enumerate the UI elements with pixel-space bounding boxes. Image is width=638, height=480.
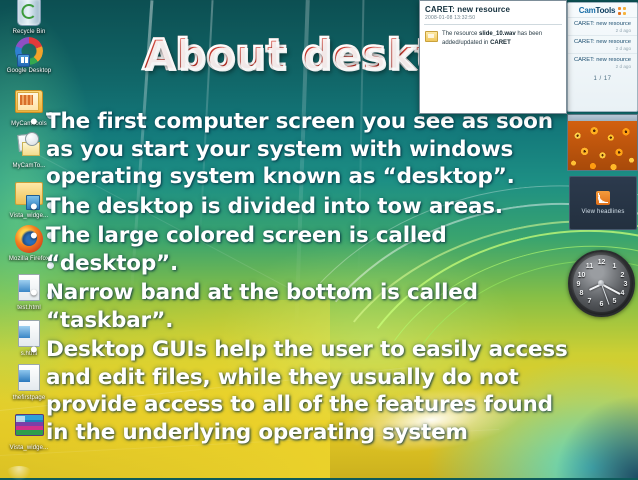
windows-sidebar: CamTools CARET: new resource 2 d ago CAR… (565, 0, 638, 478)
list-item: • The first computer screen you see as s… (30, 108, 575, 191)
file-icon (425, 31, 438, 42)
camtools-brand: CamTools (579, 6, 616, 15)
clock-gadget[interactable]: 12 1 2 3 4 5 6 7 8 9 10 11 (568, 250, 635, 317)
bullet-marker: • (30, 279, 46, 306)
camtools-header: CamTools (568, 3, 637, 17)
list-item[interactable]: CARET: new resource 2 d ago (568, 53, 637, 71)
camtools-item-title: CARET: new resource (571, 39, 634, 46)
notification-message-target: CARET (490, 40, 511, 46)
photo-flower-centers (568, 121, 637, 171)
clock-number: 10 (577, 271, 586, 280)
photo-gadget[interactable] (567, 114, 638, 171)
list-item: • The large colored screen is called “de… (30, 222, 575, 277)
camtools-item-age: 2 d ago (571, 64, 634, 69)
bullet-marker: • (30, 222, 46, 249)
camtools-brand-part2: Tools (596, 6, 616, 15)
clock-number: 1 (610, 262, 619, 271)
feed-view-headlines-label[interactable]: View headlines (581, 209, 624, 215)
camtools-item-title: CARET: new resource (571, 57, 634, 64)
clock-center-cap (598, 280, 604, 286)
camtools-gadget[interactable]: CamTools CARET: new resource 2 d ago CAR… (567, 2, 638, 112)
slide-bullet-list: • The first computer screen you see as s… (30, 108, 575, 448)
notification-body: The resource slide_10.wav has been added… (420, 25, 566, 47)
bullet-text: Desktop GUIs help the user to easily acc… (46, 336, 575, 446)
list-item: • Narrow band at the bottom is called “t… (30, 279, 575, 334)
clock-number: 11 (585, 262, 594, 271)
bullet-text: The large colored screen is called “desk… (46, 222, 575, 277)
clock-number: 7 (585, 297, 594, 306)
rss-icon (596, 191, 610, 205)
camtools-pager[interactable]: 1 / 17 (568, 71, 637, 82)
camtools-logo-icon (618, 7, 626, 15)
bullet-marker: • (30, 193, 46, 220)
camtools-item-age: 2 d ago (571, 28, 634, 33)
bullet-marker: • (30, 108, 46, 135)
list-item[interactable]: CARET: new resource 2 d ago (568, 35, 637, 53)
notification-title: CARET: new resource (420, 1, 566, 14)
bullet-marker: • (30, 336, 46, 363)
recycle-bin-icon (14, 0, 44, 28)
list-item[interactable]: CARET: new resource 2 d ago (568, 17, 637, 35)
clock-number: 2 (618, 271, 627, 280)
notification-message-file: slide_10.wav (479, 31, 516, 37)
bullet-text: The first computer screen you see as soo… (46, 108, 575, 191)
clock-number: 6 (597, 300, 606, 309)
clock-number: 8 (577, 289, 586, 298)
camtools-item-title: CARET: new resource (571, 21, 634, 28)
clock-number: 3 (621, 280, 630, 289)
list-item: • Desktop GUIs help the user to easily a… (30, 336, 575, 446)
notification-timestamp: 2008-01-08 13:32:50 (420, 14, 566, 21)
bullet-text: Narrow band at the bottom is called “tas… (46, 279, 575, 334)
notification-message-prefix: The resource (442, 31, 477, 37)
feed-headlines-gadget[interactable]: View headlines (569, 176, 637, 230)
notification-message: The resource slide_10.wav has been added… (442, 30, 561, 47)
bullet-text: The desktop is divided into tow areas. (46, 193, 503, 221)
notification-popup[interactable]: CARET: new resource 2008-01-08 13:32:50 … (419, 0, 567, 114)
camtools-brand-part1: Cam (579, 6, 596, 15)
clock-number: 9 (574, 280, 583, 289)
list-item: • The desktop is divided into tow areas. (30, 193, 575, 221)
clock-number: 12 (597, 258, 606, 267)
clock-number: 5 (610, 297, 619, 306)
camtools-item-age: 2 d ago (571, 46, 634, 51)
